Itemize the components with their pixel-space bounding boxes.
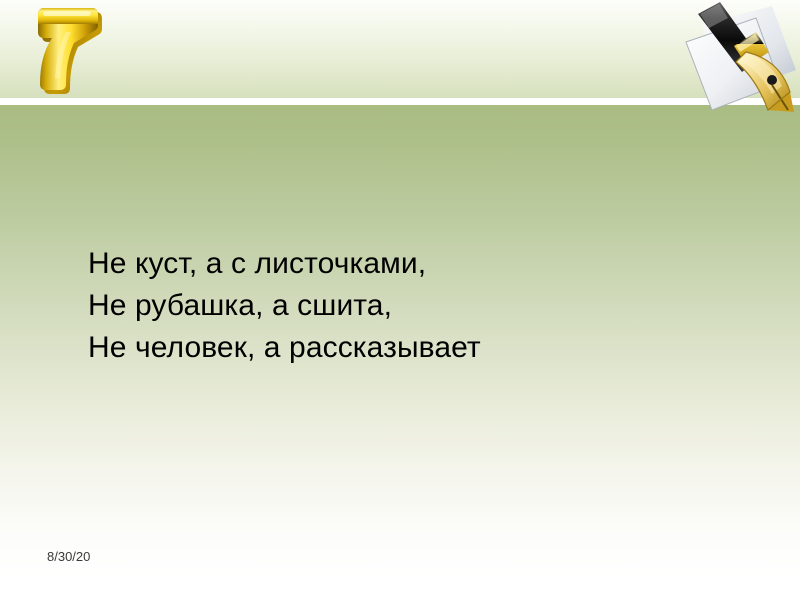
golden-seven-numeral-icon	[26, 2, 106, 98]
riddle-line-3: Не человек, а рассказывает	[88, 327, 728, 369]
riddle-line-1: Не куст, а с листочками,	[88, 243, 728, 285]
riddle-text-block: Не куст, а с листочками, Не рубашка, а с…	[88, 243, 728, 369]
riddle-line-2: Не рубашка, а сшита,	[88, 285, 728, 327]
slide-date: 8/30/20	[47, 549, 90, 564]
fountain-pen-on-paper-icon	[668, 0, 800, 118]
slide-canvas: Не куст, а с листочками, Не рубашка, а с…	[0, 0, 800, 600]
